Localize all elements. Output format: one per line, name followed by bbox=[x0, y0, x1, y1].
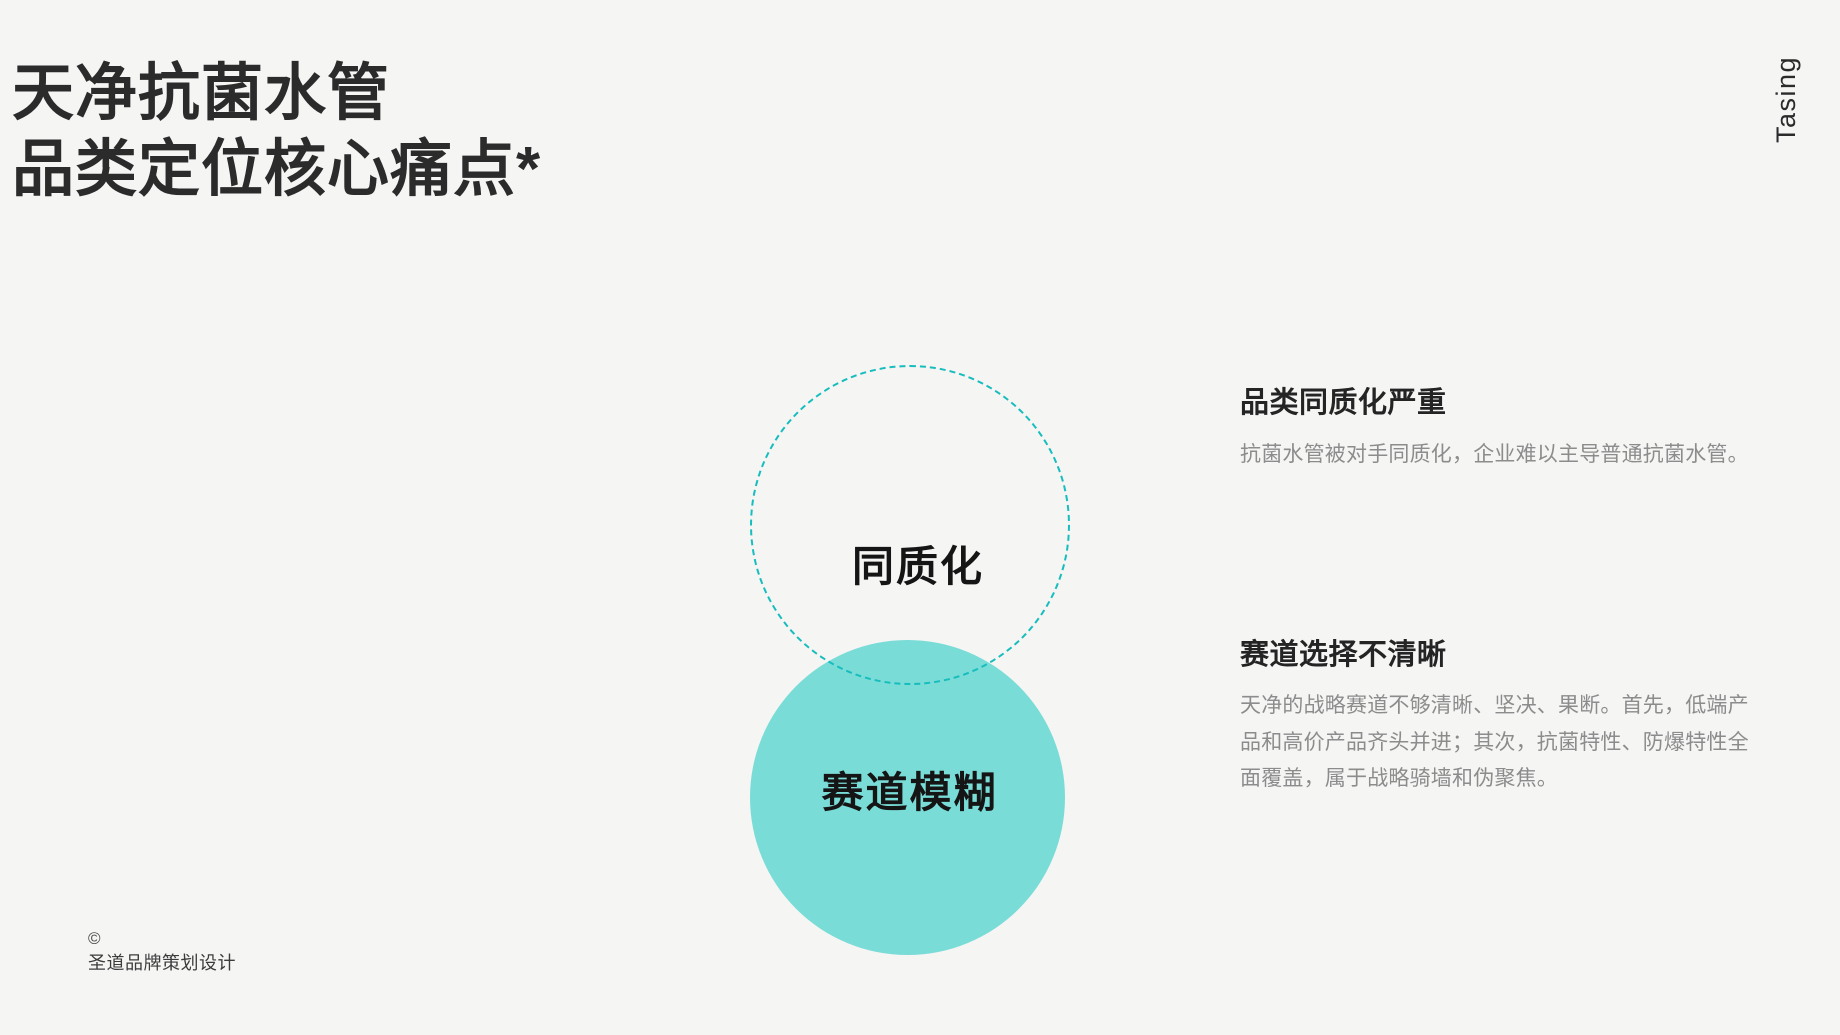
page-title-line-1: 天净抗菌水管 bbox=[12, 56, 912, 132]
pain-point-1-body: 抗菌水管被对手同质化，企业难以主导普通抗菌水管。 bbox=[1240, 437, 1750, 473]
footer-credit: © 圣道品牌策划设计 bbox=[88, 928, 236, 975]
copyright-icon: © bbox=[88, 928, 236, 951]
pain-points-column: 品类同质化严重 抗菌水管被对手同质化，企业难以主导普通抗菌水管。 赛道选择不清晰… bbox=[1240, 385, 1750, 797]
page-title-line-2: 品类定位核心痛点* bbox=[12, 132, 912, 208]
pain-point-2: 赛道选择不清晰 天净的战略赛道不够清晰、坚决、果断。首先，低端产品和高价产品齐头… bbox=[1240, 637, 1750, 797]
pain-point-1-heading: 品类同质化严重 bbox=[1240, 385, 1750, 423]
circle-homogenization-label: 同质化 bbox=[852, 533, 984, 594]
pain-point-2-heading: 赛道选择不清晰 bbox=[1240, 637, 1750, 675]
venn-diagram: 同质化 赛道模糊 bbox=[740, 355, 1080, 975]
page-title: 天净抗菌水管 品类定位核心痛点* bbox=[12, 56, 912, 207]
circle-unclear-track-label: 赛道模糊 bbox=[821, 759, 997, 820]
circle-unclear-track: 赛道模糊 bbox=[750, 640, 1065, 955]
vertical-brand-label: Tasing bbox=[1773, 56, 1800, 143]
pain-point-2-body: 天净的战略赛道不够清晰、坚决、果断。首先，低端产品和高价产品齐头并进；其次，抗菌… bbox=[1240, 688, 1750, 796]
pain-point-1: 品类同质化严重 抗菌水管被对手同质化，企业难以主导普通抗菌水管。 bbox=[1240, 385, 1750, 473]
circle-homogenization: 同质化 bbox=[750, 365, 1070, 685]
footer-studio-name: 圣道品牌策划设计 bbox=[88, 951, 236, 975]
slide-canvas: 天净抗菌水管 品类定位核心痛点* Tasing 同质化 赛道模糊 品类同质化严重… bbox=[0, 0, 1840, 1035]
